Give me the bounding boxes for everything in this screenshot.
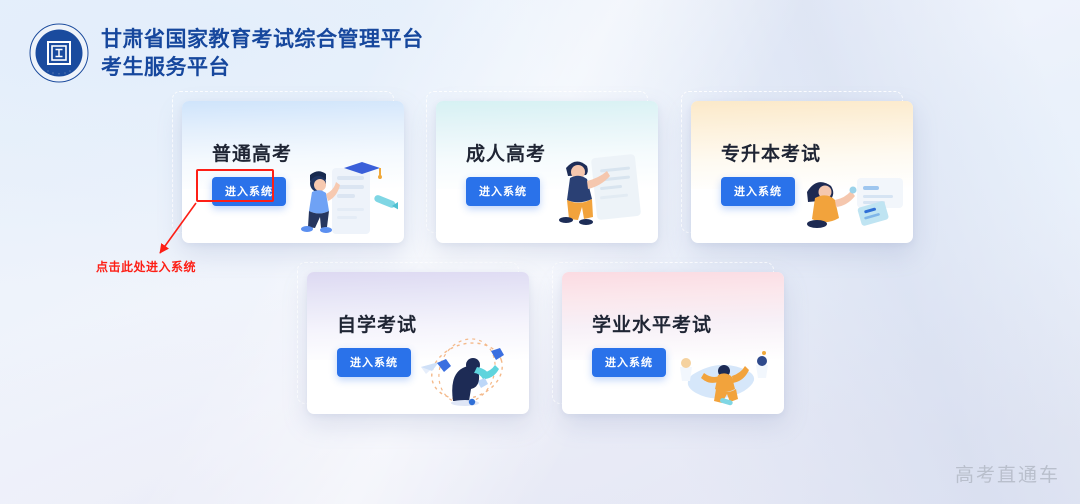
page-root: 甘肃省国家教育考试综合管理平台 考生服务平台 普通高考 进入系统 xyxy=(0,0,1080,504)
exam-card-putong-gaokao[interactable]: 普通高考 进入系统 xyxy=(182,101,404,243)
annotation-label: 点击此处进入系统 xyxy=(96,258,196,275)
student-with-phone-illustration xyxy=(288,154,398,241)
enter-system-button[interactable]: 进入系统 xyxy=(466,177,540,206)
card-title: 专升本考试 xyxy=(721,139,821,166)
exam-card-zhuanshengben-kaoshi[interactable]: 专升本考试 进入系统 xyxy=(691,101,913,243)
person-with-card-illustration xyxy=(799,162,907,239)
enter-system-button[interactable]: 进入系统 xyxy=(337,348,411,377)
enter-system-button[interactable]: 进入系统 xyxy=(212,177,286,206)
header-titles: 甘肃省国家教育考试综合管理平台 考生服务平台 xyxy=(101,27,424,79)
platform-title: 甘肃省国家教育考试综合管理平台 xyxy=(101,28,424,52)
exam-card-zixue-kaoshi[interactable]: 自学考试 进入系统 xyxy=(307,272,529,414)
watermark-label: 高考直通车 xyxy=(955,460,1060,487)
gansu-exam-emblem-logo xyxy=(28,22,90,84)
platform-subtitle: 考生服务平台 xyxy=(101,56,424,80)
person-jumping-illustration xyxy=(668,331,778,412)
enter-system-button[interactable]: 进入系统 xyxy=(592,348,666,377)
enter-system-button[interactable]: 进入系统 xyxy=(721,177,795,206)
card-title: 学业水平考试 xyxy=(592,310,712,337)
card-title: 普通高考 xyxy=(212,139,292,166)
page-header: 甘肃省国家教育考试综合管理平台 考生服务平台 xyxy=(28,22,424,84)
person-with-orbit-illustration xyxy=(411,329,519,412)
person-reading-book-illustration xyxy=(550,146,650,243)
card-title: 成人高考 xyxy=(466,139,546,166)
card-title: 自学考试 xyxy=(337,310,417,337)
exam-card-chengren-gaokao[interactable]: 成人高考 进入系统 xyxy=(436,101,658,243)
exam-card-xueye-shuiping-kaoshi[interactable]: 学业水平考试 进入系统 xyxy=(562,272,784,414)
